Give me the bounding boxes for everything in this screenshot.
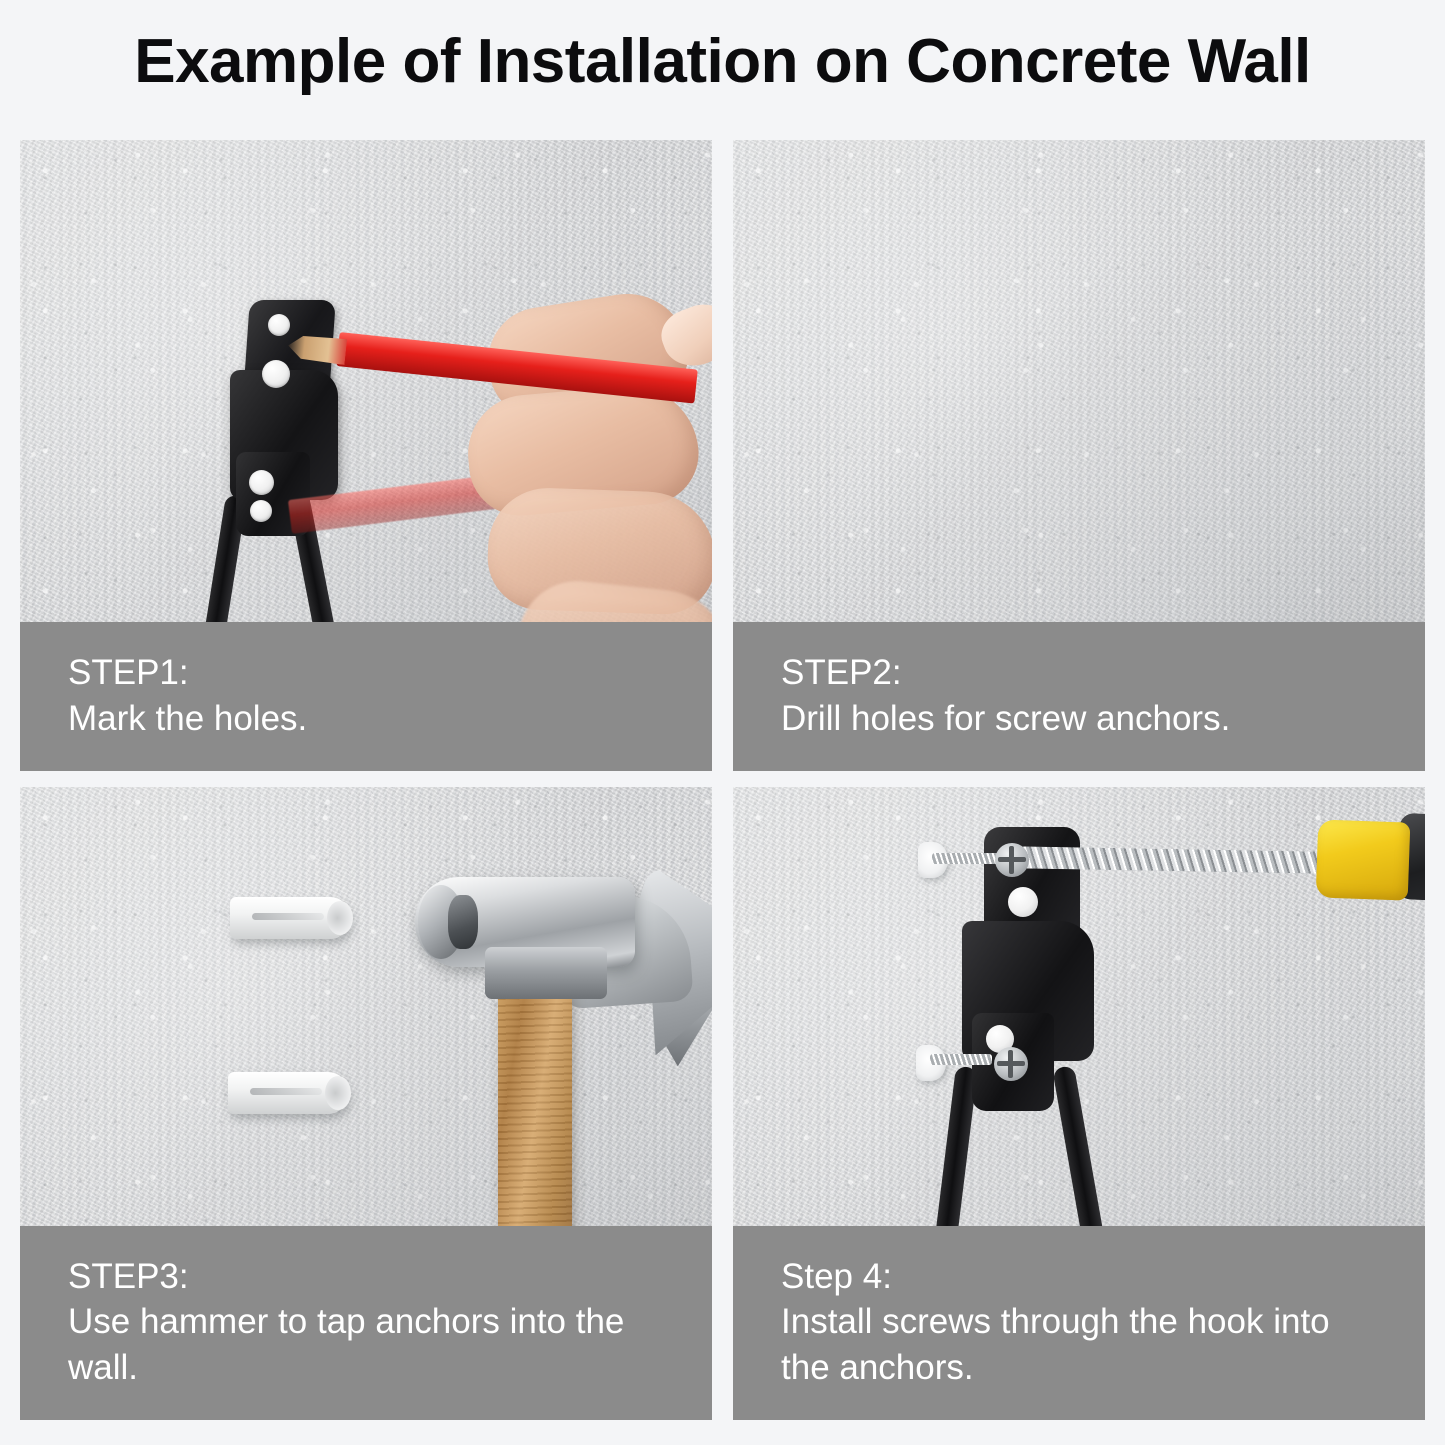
wall-anchor-lower — [228, 1072, 348, 1114]
step-2-text: Drill holes for screw anchors. — [781, 696, 1377, 742]
step-4-text: Install screws through the hook into the… — [781, 1299, 1377, 1390]
anchor-mouth — [325, 1076, 351, 1110]
hammer-collar — [485, 947, 607, 999]
steps-grid: STEP1: Mark the holes. 13 11 9 — [20, 140, 1425, 1420]
step-1-caption: STEP1: Mark the holes. — [20, 622, 712, 771]
screw-thread-lower — [930, 1054, 992, 1065]
mounting-hole-upper — [1008, 887, 1038, 917]
page-title: Example of Installation on Concrete Wall — [0, 28, 1445, 96]
anchor-mouth — [327, 901, 353, 935]
step-4-caption: Step 4: Install screws through the hook … — [733, 1226, 1425, 1421]
step-panel-2[interactable]: 13 11 9 — [733, 140, 1425, 771]
step-4-label: Step 4: — [781, 1254, 1377, 1300]
step-3-label: STEP3: — [68, 1254, 664, 1300]
step-panel-3[interactable]: STEP3: Use hammer to tap anchors into th… — [20, 787, 712, 1420]
step-2-label: STEP2: — [781, 650, 1377, 696]
anchor-slot — [250, 1088, 322, 1095]
step-3-text: Use hammer to tap anchors into the wall. — [68, 1299, 664, 1390]
screw-thread-upper — [932, 853, 1002, 864]
screwdriver-yellow-ferrule — [1316, 819, 1411, 900]
mounting-hole-3 — [249, 470, 274, 495]
screw-head-upper-icon — [995, 843, 1029, 877]
step-3-caption: STEP3: Use hammer to tap anchors into th… — [20, 1226, 712, 1421]
step-panel-4[interactable]: Step 4: Install screws through the hook … — [733, 787, 1425, 1420]
fingernail — [654, 296, 712, 375]
hammer-face-shadow — [448, 895, 478, 949]
mounting-hole-2 — [262, 360, 290, 388]
wall-anchor-upper — [230, 897, 350, 939]
screw-head-lower-icon — [994, 1047, 1028, 1081]
wall-hook-bracket — [920, 817, 1220, 1287]
anchor-slot — [252, 913, 324, 920]
mounting-hole-1 — [268, 314, 290, 336]
mounting-hole-4 — [250, 500, 272, 522]
step-1-label: STEP1: — [68, 650, 664, 696]
step-1-text: Mark the holes. — [68, 696, 664, 742]
step-2-caption: STEP2: Drill holes for screw anchors. — [733, 622, 1425, 771]
step-panel-1[interactable]: STEP1: Mark the holes. — [20, 140, 712, 771]
installation-guide-page: Example of Installation on Concrete Wall — [0, 0, 1445, 1445]
